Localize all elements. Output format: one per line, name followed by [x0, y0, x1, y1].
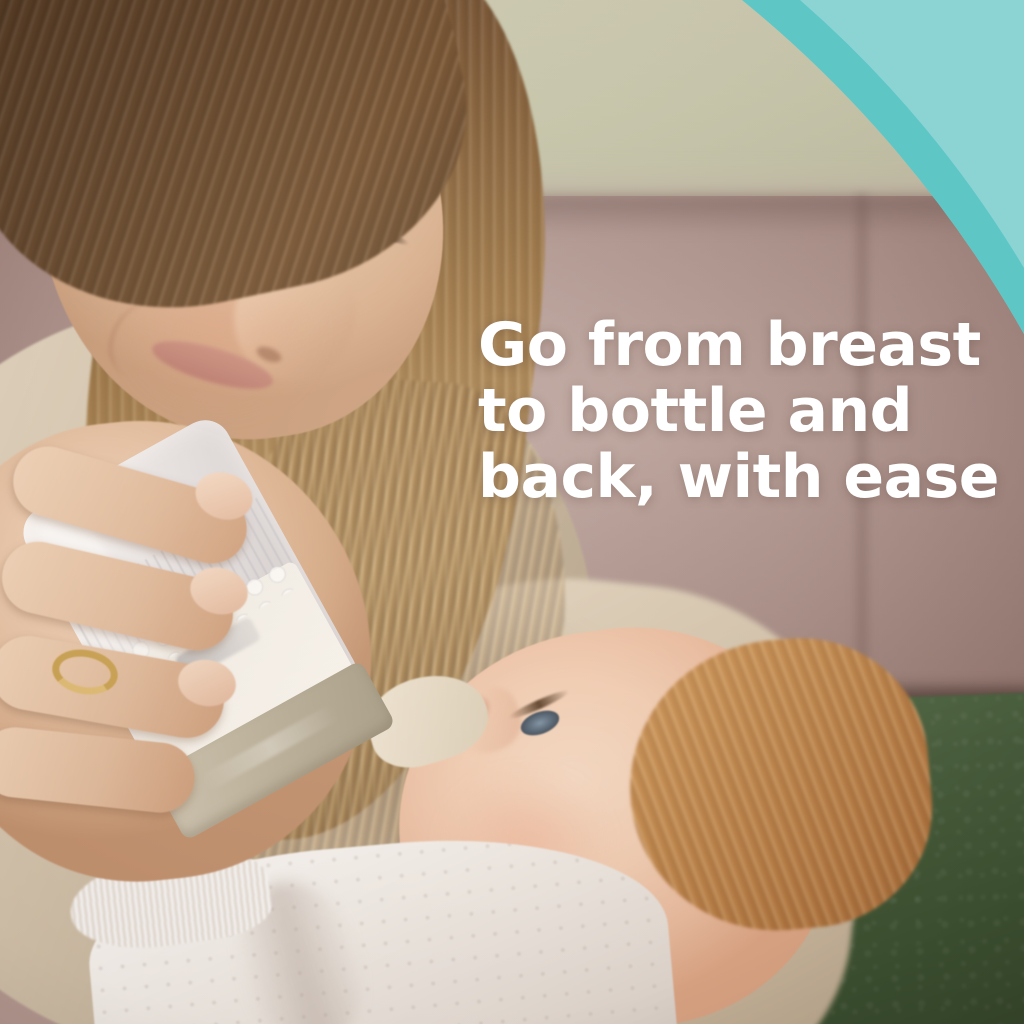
- headline-line-3: back, with ease: [478, 444, 988, 510]
- headline-line-2: to bottle and: [478, 378, 988, 444]
- headline: Go from breast to bottle and back, with …: [478, 312, 988, 510]
- banner-canvas: Go from breast to bottle and back, with …: [0, 0, 1024, 1024]
- headline-line-1: Go from breast: [478, 312, 988, 378]
- photo-scene: [0, 0, 1024, 1024]
